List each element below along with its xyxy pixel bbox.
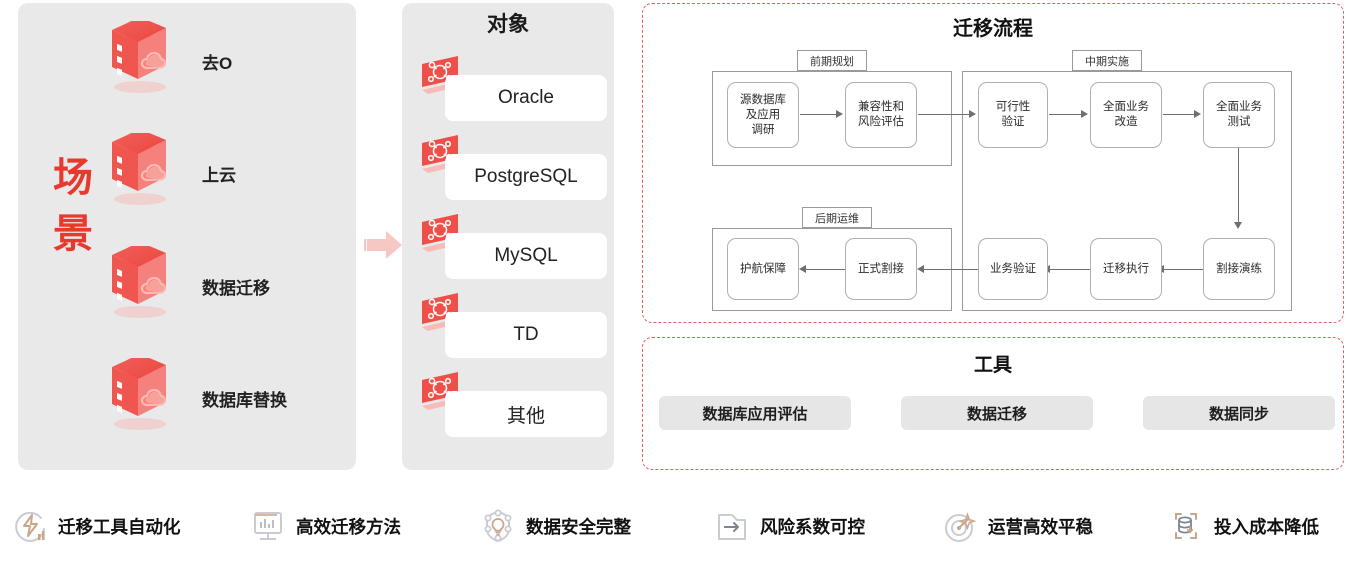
flow-connector: [1238, 148, 1239, 224]
benefit-label: 高效迁移方法: [296, 514, 401, 539]
scenario-title-char-2: 景: [42, 206, 106, 262]
server-rack-cloud-icon: [100, 21, 180, 102]
scenario-item-2[interactable]: 数据迁移: [100, 243, 340, 329]
object-item-td[interactable]: TD: [445, 312, 607, 358]
flow-node-line: 正式割接: [858, 262, 904, 277]
object-item-label: TD: [513, 324, 538, 346]
scenario-title-char-1: 场: [42, 150, 106, 206]
tool-chip-data-migration[interactable]: 数据迁移: [901, 396, 1093, 430]
flow-node-line: 调研: [740, 123, 786, 138]
flow-connector: [805, 269, 846, 270]
right-arrow-icon: [364, 228, 404, 262]
flow-connector: [1049, 269, 1091, 270]
object-panel-title: 对象: [402, 8, 614, 38]
flow-node-business-refactor[interactable]: 全面业务 改造: [1090, 82, 1162, 148]
flow-group-label-mid: 中期实施: [1072, 50, 1142, 71]
flow-group-label-late: 后期运维: [802, 207, 872, 228]
scenario-item-label: 数据迁移: [202, 274, 270, 299]
benefit-item-0[interactable]: 迁移工具自动化: [10, 500, 181, 552]
infographic-canvas: 场 景: [0, 0, 1350, 561]
flow-connector: [1163, 114, 1195, 115]
flow-node-migration-exec[interactable]: 迁移执行: [1090, 238, 1162, 300]
flow-group-label-early: 前期规划: [797, 50, 867, 71]
scenario-title: 场 景: [42, 150, 106, 262]
arrow-in-frame-icon: [712, 506, 752, 546]
flow-connector: [923, 269, 979, 270]
flow-connector: [1049, 114, 1082, 115]
flow-arrow-icon: [1194, 110, 1201, 118]
flow-node-formal-cutover[interactable]: 正式割接: [845, 238, 917, 300]
benefit-item-4[interactable]: 运营高效平稳: [940, 500, 1093, 552]
object-item-mysql[interactable]: MySQL: [445, 233, 607, 279]
flow-connector: [918, 114, 970, 115]
object-item-oracle[interactable]: Oracle: [445, 75, 607, 121]
flow-arrow-icon: [969, 110, 976, 118]
flow-node-line: 护航保障: [740, 262, 786, 277]
target-arrow-icon: [940, 506, 980, 546]
flow-node-line: 验证: [996, 115, 1031, 130]
scenario-item-label: 数据库替换: [202, 386, 287, 411]
flow-node-line: 源数据库: [740, 93, 786, 108]
flow-connector: [1163, 269, 1204, 270]
object-item-other[interactable]: 其他: [445, 391, 607, 437]
database-down-icon: [1166, 506, 1206, 546]
flow-node-line: 可行性: [996, 100, 1031, 115]
object-item-label: 其他: [507, 401, 545, 428]
flow-node-compat-risk[interactable]: 兼容性和 风险评估: [845, 82, 917, 148]
tool-chip-label: 数据库应用评估: [702, 403, 807, 424]
flow-node-line: 业务验证: [990, 262, 1036, 277]
scenario-item-1[interactable]: 上云: [100, 130, 340, 216]
flow-node-feasibility[interactable]: 可行性 验证: [978, 82, 1048, 148]
flow-node-cutover-drill[interactable]: 割接演练: [1203, 238, 1275, 300]
flow-node-escort-support[interactable]: 护航保障: [727, 238, 799, 300]
flow-node-business-verify[interactable]: 业务验证: [978, 238, 1048, 300]
object-item-label: Oracle: [498, 87, 554, 109]
migration-flow-title: 迁移流程: [642, 12, 1344, 41]
flow-arrow-icon: [799, 265, 806, 273]
benefit-label: 数据安全完整: [526, 514, 631, 539]
object-item-postgresql[interactable]: PostgreSQL: [445, 154, 607, 200]
monitor-chart-icon: [248, 506, 288, 546]
benefit-label: 投入成本降低: [1214, 514, 1319, 539]
benefit-item-3[interactable]: 风险系数可控: [712, 500, 865, 552]
tool-chip-label: 数据迁移: [967, 403, 1027, 424]
flow-node-source-survey[interactable]: 源数据库 及应用 调研: [727, 82, 799, 148]
tool-chip-db-app-assessment[interactable]: 数据库应用评估: [659, 396, 851, 430]
scenario-item-label: 去O: [202, 49, 232, 74]
benefit-item-2[interactable]: 数据安全完整: [478, 500, 631, 552]
flow-arrow-icon: [1234, 222, 1242, 229]
flow-node-line: 及应用: [740, 108, 786, 123]
benefit-label: 风险系数可控: [760, 514, 865, 539]
benefit-item-1[interactable]: 高效迁移方法: [248, 500, 401, 552]
benefit-item-5[interactable]: 投入成本降低: [1166, 500, 1319, 552]
flow-connector: [800, 114, 837, 115]
tool-chip-data-sync[interactable]: 数据同步: [1143, 396, 1335, 430]
shield-bulb-icon: [478, 506, 518, 546]
flow-node-line: 全面业务: [1216, 100, 1262, 115]
lightning-circle-icon: [10, 506, 50, 546]
benefit-label: 运营高效平稳: [988, 514, 1093, 539]
flow-node-line: 兼容性和: [858, 100, 904, 115]
scenario-item-3[interactable]: 数据库替换: [100, 355, 340, 441]
scenario-item-0[interactable]: 去O: [100, 18, 340, 104]
flow-node-business-test[interactable]: 全面业务 测试: [1203, 82, 1275, 148]
flow-node-line: 风险评估: [858, 115, 904, 130]
flow-node-line: 迁移执行: [1103, 262, 1149, 277]
object-item-label: PostgreSQL: [474, 166, 578, 188]
server-rack-cloud-icon: [100, 133, 180, 214]
flow-node-line: 全面业务: [1103, 100, 1149, 115]
benefit-label: 迁移工具自动化: [58, 514, 181, 539]
tool-chip-label: 数据同步: [1209, 403, 1269, 424]
flow-arrow-icon: [917, 265, 924, 273]
server-rack-cloud-icon: [100, 246, 180, 327]
flow-node-line: 割接演练: [1216, 262, 1262, 277]
flow-arrow-icon: [1081, 110, 1088, 118]
scenario-item-label: 上云: [202, 161, 236, 186]
flow-node-line: 测试: [1216, 115, 1262, 130]
server-rack-cloud-icon: [100, 358, 180, 439]
flow-arrow-icon: [836, 110, 843, 118]
flow-node-line: 改造: [1103, 115, 1149, 130]
object-item-label: MySQL: [494, 245, 557, 267]
tools-panel-title: 工具: [642, 350, 1344, 377]
